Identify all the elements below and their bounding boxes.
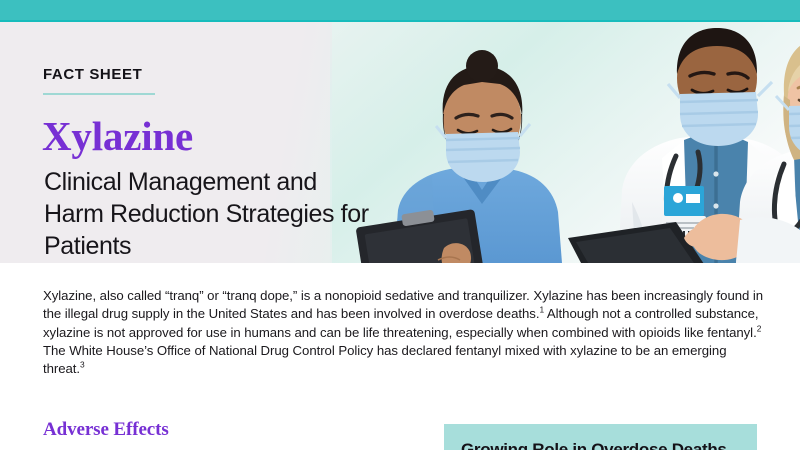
- top-accent-bar: [0, 0, 800, 22]
- page-subtitle: Clinical Management and Harm Reduction S…: [44, 166, 374, 262]
- footnote-marker-2: 2: [757, 323, 762, 333]
- footnote-marker-3: 3: [80, 360, 85, 370]
- page-title: Xylazine: [42, 114, 193, 158]
- intro-text-3: The White House’s Office of National Dru…: [43, 343, 726, 376]
- section-heading-adverse-effects: Adverse Effects: [43, 419, 169, 441]
- kicker-underline: [43, 93, 155, 95]
- callout-heading: Growing Role in Overdose Deaths: [461, 440, 751, 450]
- kicker-label: FACT SHEET: [43, 66, 142, 83]
- fact-sheet-page: FACT SHEET Xylazine Clinical Management …: [0, 0, 800, 450]
- intro-paragraph: Xylazine, also called “tranq” or “tranq …: [43, 287, 765, 378]
- callout-box-overdose-deaths: Growing Role in Overdose Deaths: [444, 424, 757, 450]
- header-band: FACT SHEET Xylazine Clinical Management …: [0, 22, 800, 263]
- healthcare-team-photo-icon: [332, 22, 800, 263]
- header-photo: [332, 22, 800, 263]
